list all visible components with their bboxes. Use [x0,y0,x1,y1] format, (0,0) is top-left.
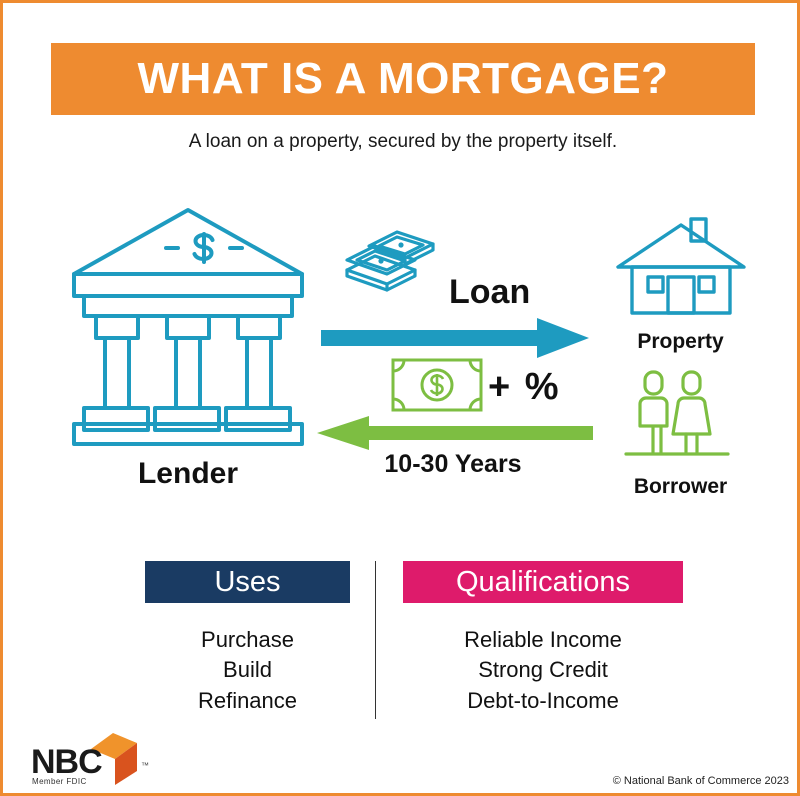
qualifications-panel: Qualifications Reliable Income Strong Cr… [403,561,683,716]
qualifications-panel-title: Qualifications [456,568,630,597]
qualifications-panel-header: Qualifications [403,561,683,603]
borrower-group: Borrower [598,368,763,499]
panels-area: Uses Purchase Build Refinance Qualificat… [3,561,800,726]
interest-label: + % [488,366,561,409]
subtitle-text: A loan on a property, secured by the pro… [3,131,800,153]
lender-label: Lender [53,457,323,491]
title-banner: WHAT IS A MORTGAGE? [51,43,755,115]
dollar-bill-icon [391,358,483,412]
trademark-symbol: ™ [141,761,149,770]
loan-term-label: 10-30 Years [313,450,593,479]
footer: NBC ™ Member FDIC © National Bank of Com… [3,719,800,793]
uses-panel: Uses Purchase Build Refinance [145,561,350,716]
copyright-text: © National Bank of Commerce 2023 [613,775,789,787]
money-stack-icon [339,223,439,293]
list-item: Strong Credit [403,655,683,685]
panel-divider [375,561,376,719]
uses-panel-title: Uses [214,568,280,597]
uses-list: Purchase Build Refinance [145,625,350,716]
member-fdic-label: Member FDIC [32,777,87,786]
property-label: Property [598,330,763,354]
list-item: Purchase [145,625,350,655]
qualifications-list: Reliable Income Strong Credit Debt-to-In… [403,625,683,716]
borrower-label: Borrower [598,475,763,499]
page-title: WHAT IS A MORTGAGE? [138,57,669,101]
loan-arrow-right-icon [321,316,591,360]
uses-panel-header: Uses [145,561,350,603]
two-people-icon [606,368,756,468]
repayment-flow-group: + % 10-30 Years [313,358,593,488]
loan-label: Loan [449,273,530,312]
list-item: Debt-to-Income [403,686,683,716]
nbc-logo: NBC ™ Member FDIC [31,727,161,789]
loan-flow-group: Loan [321,223,591,343]
list-item: Refinance [145,686,350,716]
property-group: Property [598,213,763,354]
repayment-arrow-left-icon [313,416,593,450]
infographic-canvas: WHAT IS A MORTGAGE? A loan on a property… [0,0,800,796]
bank-icon [58,198,318,448]
lender-group: Lender [53,198,323,491]
list-item: Reliable Income [403,625,683,655]
list-item: Build [145,655,350,685]
diagram-area: Lender [3,188,800,518]
house-icon [606,213,756,323]
